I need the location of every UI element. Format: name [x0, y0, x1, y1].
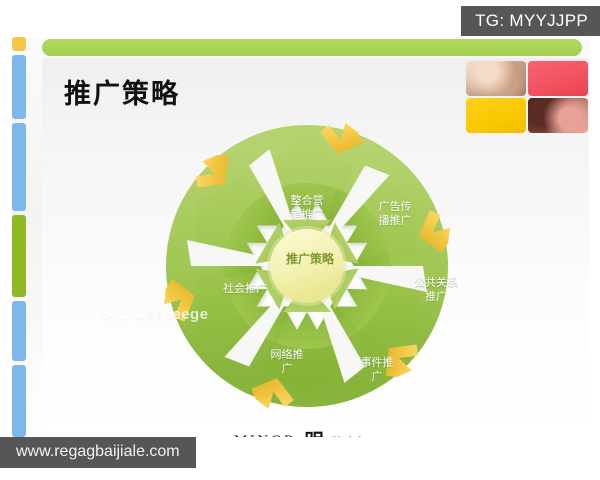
strip-orange [12, 37, 26, 51]
strip-green [12, 215, 26, 297]
slide-page-number: 47/100 [505, 436, 539, 437]
strip-blue-4 [12, 365, 26, 437]
cycle-center-label: 推广策略 [279, 250, 341, 267]
slide-content-panel: 推广策略 [42, 58, 589, 437]
brand-logo-chinese: 牌珠宝 [332, 434, 367, 438]
tg-tag-overlay: TG: MYYJJPP [461, 6, 600, 36]
brand-logo-latin: MINGR [234, 433, 297, 437]
strip-blue-3 [12, 301, 26, 361]
screenshot-root: TG: MYYJJPP 推广策略 [0, 0, 600, 480]
thumb-photo-top-left [466, 61, 526, 96]
thumbnail-grid [466, 61, 588, 133]
page-title: 推广策略 [64, 72, 180, 111]
thumb-swatch-top-right [528, 61, 588, 96]
brand-logo: MINGR 明 牌珠宝 [234, 432, 366, 437]
promotion-strategy-cycle-diagram: 整合营 销推广 广告传 播推广 公共关系 推广 事件推 广 网络推 广 [157, 116, 457, 416]
url-watermark-overlay: www.regagbaijiale.com [0, 437, 196, 468]
slide-top-green-bar [42, 39, 582, 56]
sidebar-color-strip [12, 37, 26, 437]
thumb-swatch-bottom-left [466, 98, 526, 133]
thumb-photo-bottom-right [528, 98, 588, 133]
strip-blue-1 [12, 55, 26, 119]
brand-logo-mark: 明 [305, 432, 324, 437]
strip-blue-2 [12, 123, 26, 211]
slide-faint-watermark: Sob Deeeeege [100, 306, 209, 323]
presentation-slide: 推广策略 [12, 37, 589, 437]
